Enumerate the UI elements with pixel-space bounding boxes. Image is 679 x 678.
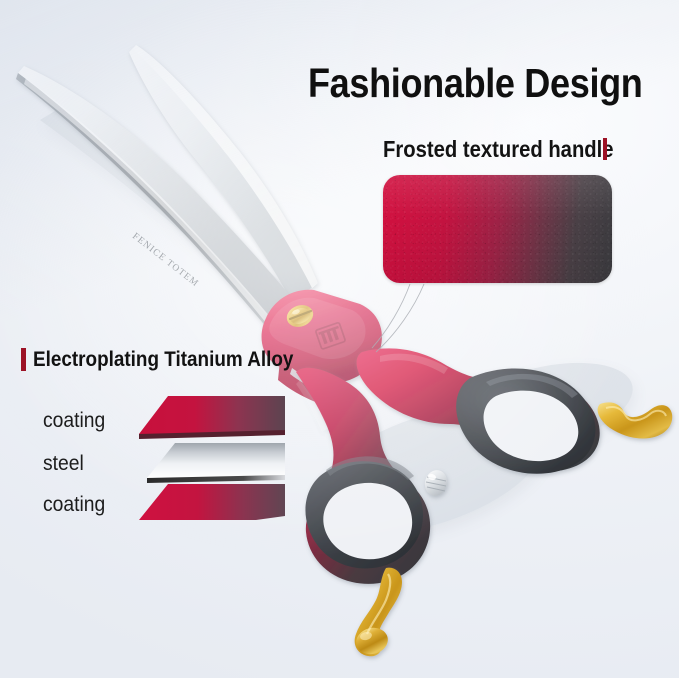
coating-layer-bottom [139,484,285,520]
coating-label-bottom: coating [43,493,105,517]
handle-callout-accent-bar [603,138,607,160]
coating-layer-top [139,396,285,439]
steel-layer [147,443,285,483]
steel-label: steel [43,452,84,476]
brand-engraving: FENICE TOTEM [130,231,200,289]
swatch-gloss [383,175,612,283]
page-title: Fashionable Design [308,60,642,107]
product-infographic: FENICE TOTEM [0,0,679,678]
gold-tang-tip [598,402,673,438]
coating-label-top: coating [43,409,105,433]
frosted-handle-swatch [383,175,612,283]
coating-layer-diagram [115,392,315,522]
handle-callout-label: Frosted textured handle [383,136,614,163]
alloy-callout-accent-bar [21,348,26,371]
alloy-callout-label: Electroplating Titanium Alloy [33,348,293,372]
